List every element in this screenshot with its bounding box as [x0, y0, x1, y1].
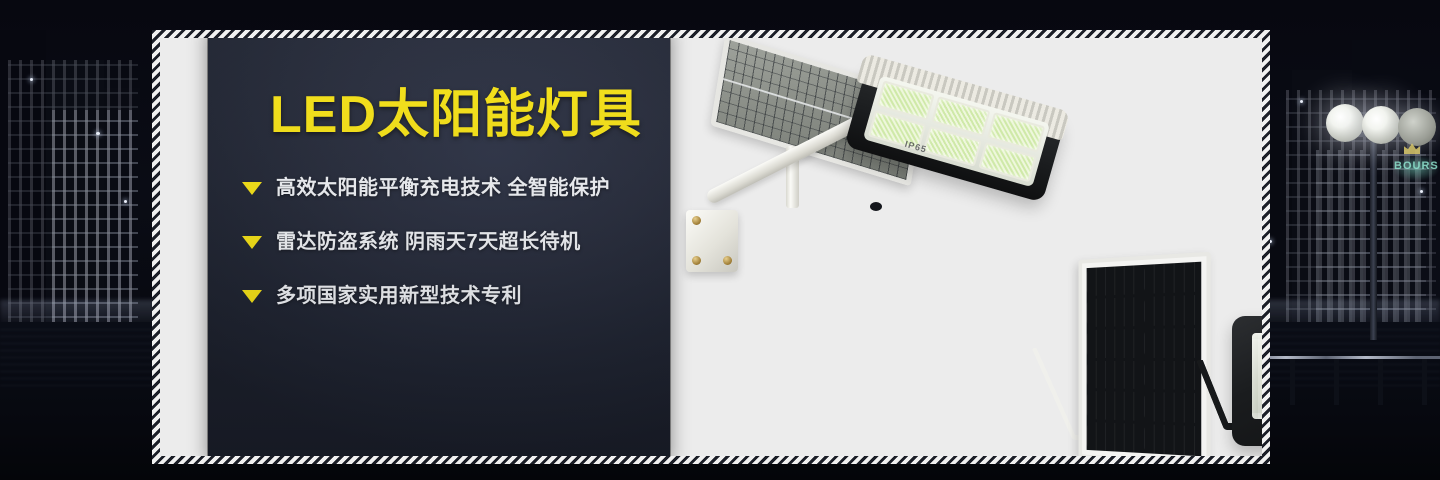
- solar-cell: [1143, 262, 1201, 294]
- standalone-solar-panel-image: [1048, 256, 1228, 456]
- list-item: 雷达防盗系统 阴雨天7天超长待机: [242, 230, 662, 254]
- solar-cell-grid: [1087, 262, 1202, 456]
- city-light-dot: [30, 78, 33, 81]
- triangle-down-icon: [242, 182, 262, 195]
- lamp-post: [1370, 134, 1377, 340]
- solar-cell: [1087, 265, 1141, 296]
- panel-frame: [1079, 252, 1211, 456]
- solar-cell: [1143, 328, 1201, 358]
- hatched-border-frame: LED太阳能灯具 高效太阳能平衡充电技术 全智能保护 雷达防盗系统 阴雨天7天超…: [152, 30, 1270, 464]
- neon-sign-text: BOURS: [1394, 160, 1439, 172]
- banner-content-area: LED太阳能灯具 高效太阳能平衡充电技术 全智能保护 雷达防盗系统 阴雨天7天超…: [160, 38, 1262, 456]
- bolt-icon: [692, 216, 701, 225]
- street-lamp-globes: [1318, 78, 1438, 338]
- triangle-down-icon: [242, 236, 262, 249]
- solar-street-light-image: IP65: [670, 50, 1060, 350]
- railing-posts: [1246, 359, 1440, 405]
- solar-cell: [1143, 361, 1201, 391]
- list-item: 多项国家实用新型技术专利: [242, 284, 662, 308]
- solar-cell: [1143, 392, 1201, 423]
- feature-text: 高效太阳能平衡充电技术 全智能保护: [276, 176, 610, 200]
- bolt-icon: [692, 256, 701, 265]
- bolt-icon: [723, 256, 732, 265]
- lamp-globe: [1326, 104, 1364, 142]
- solar-cell: [1143, 424, 1201, 456]
- flood-light-lens: [1252, 333, 1262, 419]
- solar-cell: [1087, 360, 1141, 389]
- lamp-globe: [1398, 108, 1436, 146]
- waterfront-railing: [1246, 356, 1440, 446]
- lens-bezel: [1252, 333, 1262, 419]
- lamp-globe: [1362, 106, 1400, 144]
- feature-list: 高效太阳能平衡充电技术 全智能保护 雷达防盗系统 阴雨天7天超长待机 多项国家实…: [242, 176, 662, 338]
- product-showcase: IP65: [670, 38, 1262, 456]
- solar-cell: [1087, 297, 1141, 327]
- flood-light-housing: Solar light 100W IP67: [1232, 316, 1262, 446]
- solar-cell: [1143, 295, 1201, 326]
- city-light-dot: [124, 200, 127, 203]
- radar-sensor-icon: [870, 202, 882, 211]
- solar-cell: [1087, 391, 1141, 421]
- feature-text: 多项国家实用新型技术专利: [276, 284, 522, 308]
- triangle-down-icon: [242, 290, 262, 303]
- solar-flood-light-image: Solar light 100W IP67: [1210, 316, 1262, 456]
- feature-text: 雷达防盗系统 阴雨天7天超长待机: [276, 230, 581, 254]
- solar-cell: [1087, 422, 1141, 453]
- solar-cell: [1087, 329, 1141, 358]
- wall-mount-bracket: [686, 210, 738, 272]
- list-item: 高效太阳能平衡充电技术 全智能保护: [242, 176, 662, 200]
- text-panel: LED太阳能灯具 高效太阳能平衡充电技术 全智能保护 雷达防盗系统 阴雨天7天超…: [208, 38, 670, 456]
- city-light-dot: [96, 132, 100, 135]
- city-light-dot: [1300, 100, 1303, 103]
- street-light-head: IP65: [844, 63, 1066, 202]
- page-title: LED太阳能灯具: [270, 72, 642, 147]
